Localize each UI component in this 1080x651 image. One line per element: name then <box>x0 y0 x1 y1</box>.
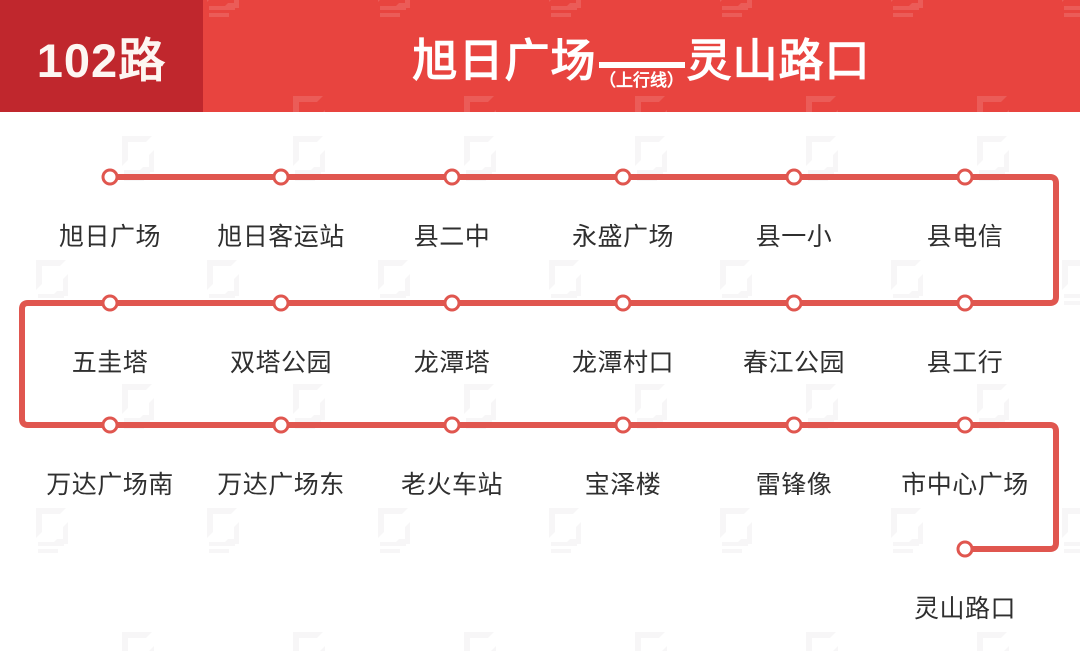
station-dot-icon[interactable] <box>786 417 803 434</box>
station-label: 万达广场南 <box>46 465 174 501</box>
station-label: 县二中 <box>414 217 491 253</box>
station-label: 双塔公园 <box>230 343 332 379</box>
station-label: 龙潭村口 <box>572 343 674 379</box>
station-label: 龙潭塔 <box>414 343 491 379</box>
station-dot-icon[interactable] <box>957 417 974 434</box>
station-label: 宝泽楼 <box>585 465 662 501</box>
route-origin: 旭日广场 <box>412 24 596 89</box>
station-dot-icon[interactable] <box>102 295 119 312</box>
station-dot-icon[interactable] <box>786 169 803 186</box>
station-dot-icon[interactable] <box>957 169 974 186</box>
station-dot-icon[interactable] <box>957 295 974 312</box>
station-dot-icon[interactable] <box>957 541 974 558</box>
route-title: 旭日广场 （上行线） 灵山路口 <box>203 0 1080 112</box>
station-dot-icon[interactable] <box>444 169 461 186</box>
station-label: 县工行 <box>927 343 1004 379</box>
station-label: 灵山路口 <box>914 589 1016 625</box>
route-direction-label: （上行线） <box>599 66 684 91</box>
route-direction-dash: （上行线） <box>599 62 685 68</box>
route-header: 102路 旭日广场 （上行线） 灵山路口 <box>0 0 1080 112</box>
station-label: 旭日客运站 <box>217 217 345 253</box>
station-dot-icon[interactable] <box>615 295 632 312</box>
station-label: 永盛广场 <box>572 217 674 253</box>
station-dot-icon[interactable] <box>273 417 290 434</box>
station-dot-icon[interactable] <box>102 169 119 186</box>
station-label: 五圭塔 <box>72 343 149 379</box>
station-dot-icon[interactable] <box>615 169 632 186</box>
station-dot-icon[interactable] <box>444 295 461 312</box>
station-label: 春江公园 <box>743 343 845 379</box>
route-map: 旭日广场旭日客运站县二中永盛广场县一小县电信五圭塔双塔公园龙潭塔龙潭村口春江公园… <box>0 112 1080 651</box>
station-label: 万达广场东 <box>217 465 345 501</box>
station-dot-icon[interactable] <box>444 417 461 434</box>
station-label: 老火车站 <box>401 465 503 501</box>
route-number: 102路 <box>0 0 203 112</box>
route-line-path <box>0 112 1080 651</box>
route-destination: 灵山路口 <box>687 24 871 89</box>
station-label: 县一小 <box>756 217 833 253</box>
station-dot-icon[interactable] <box>273 169 290 186</box>
station-dot-icon[interactable] <box>786 295 803 312</box>
station-dot-icon[interactable] <box>102 417 119 434</box>
station-label: 县电信 <box>927 217 1004 253</box>
station-dot-icon[interactable] <box>615 417 632 434</box>
station-label: 旭日广场 <box>59 217 161 253</box>
station-label: 雷锋像 <box>756 465 833 501</box>
station-dot-icon[interactable] <box>273 295 290 312</box>
station-label: 市中心广场 <box>901 465 1029 501</box>
